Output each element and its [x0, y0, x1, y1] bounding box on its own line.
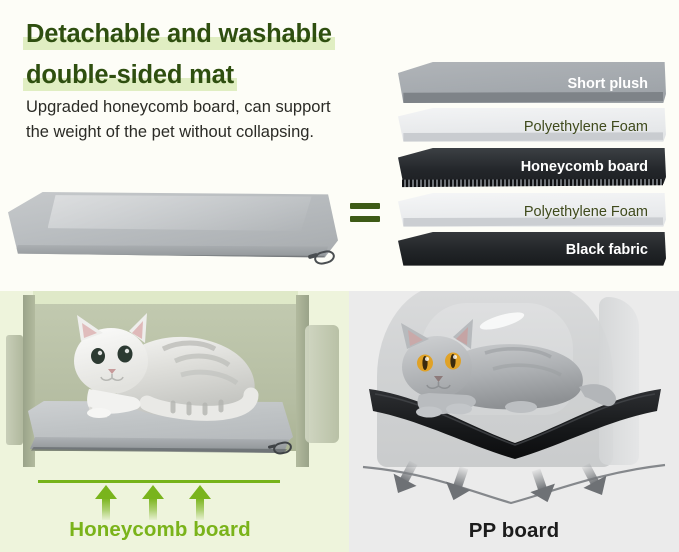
zipper-icon [268, 441, 294, 457]
panel-honeycomb-board: Honeycomb board [0, 291, 349, 552]
headline: Detachable and washable double-sided mat [26, 16, 406, 93]
equals-icon [350, 203, 380, 229]
layer-honeycomb-board: Honeycomb board [398, 148, 666, 198]
honeycomb-flutes [402, 179, 663, 188]
arrow-stem [196, 498, 204, 520]
mat-sheen [48, 195, 312, 231]
headline-line-2-text: double-sided mat [26, 61, 234, 89]
equals-bar-top [350, 203, 380, 209]
layer-short-plush: Short plush [398, 62, 666, 112]
subtitle: Upgraded honeycomb board, can support th… [26, 95, 391, 145]
layer-label: Honeycomb board [521, 160, 648, 175]
comparison-section: Honeycomb board [0, 291, 679, 552]
arrow-head [142, 485, 164, 499]
headline-line-1: Detachable and washable [26, 16, 332, 52]
up-arrow-icon [95, 485, 117, 519]
panel-pp-board: PP board [349, 291, 679, 552]
subtitle-line-1: Upgraded honeycomb board, can support [26, 95, 391, 120]
carrier-right-post [305, 325, 339, 443]
honeycomb-support-line [38, 480, 280, 483]
arrow-head [189, 485, 211, 499]
headline-line-1-text: Detachable and washable [26, 20, 332, 48]
mat-edge [15, 245, 329, 257]
mat-product-illustration [8, 192, 338, 282]
honeycomb-board-label: Honeycomb board [0, 518, 320, 542]
equals-bar-bottom [350, 216, 380, 222]
arrow-head [95, 485, 117, 499]
carrier-left-post [6, 335, 23, 445]
carrier-top-edge [33, 291, 298, 304]
arrow-stem [149, 498, 157, 520]
zipper-pull [272, 440, 293, 456]
layer-label: Black fabric [566, 243, 648, 258]
layer-black-fabric: Black fabric [398, 232, 666, 272]
honeycomb-photo [0, 291, 349, 473]
layer-stack-diagram: Short plush Polyethylene Foam Honeycomb … [398, 60, 673, 272]
layer-polyethylene-foam-top: Polyethylene Foam [398, 108, 666, 150]
zipper-icon [308, 249, 338, 269]
layer-label: Short plush [567, 77, 648, 92]
headline-line-2: double-sided mat [26, 57, 234, 93]
up-arrow-icon [142, 485, 164, 519]
layer-polyethylene-foam-bottom: Polyethylene Foam [398, 193, 666, 235]
product-infographic: Detachable and washable double-sided mat… [0, 0, 679, 552]
pp-board-label: PP board [349, 519, 679, 543]
arrow-stem [102, 498, 110, 520]
silver-tabby-cat [55, 309, 285, 424]
layer-label: Polyethylene Foam [524, 120, 648, 135]
gray-cat [389, 313, 619, 425]
subtitle-line-2: the weight of the pet without collapsing… [26, 120, 391, 145]
layer-label: Polyethylene Foam [524, 205, 648, 220]
mat-body [8, 192, 338, 270]
up-arrow-icon [189, 485, 211, 519]
top-section: Detachable and washable double-sided mat… [0, 0, 679, 291]
zipper-pull [313, 249, 337, 267]
